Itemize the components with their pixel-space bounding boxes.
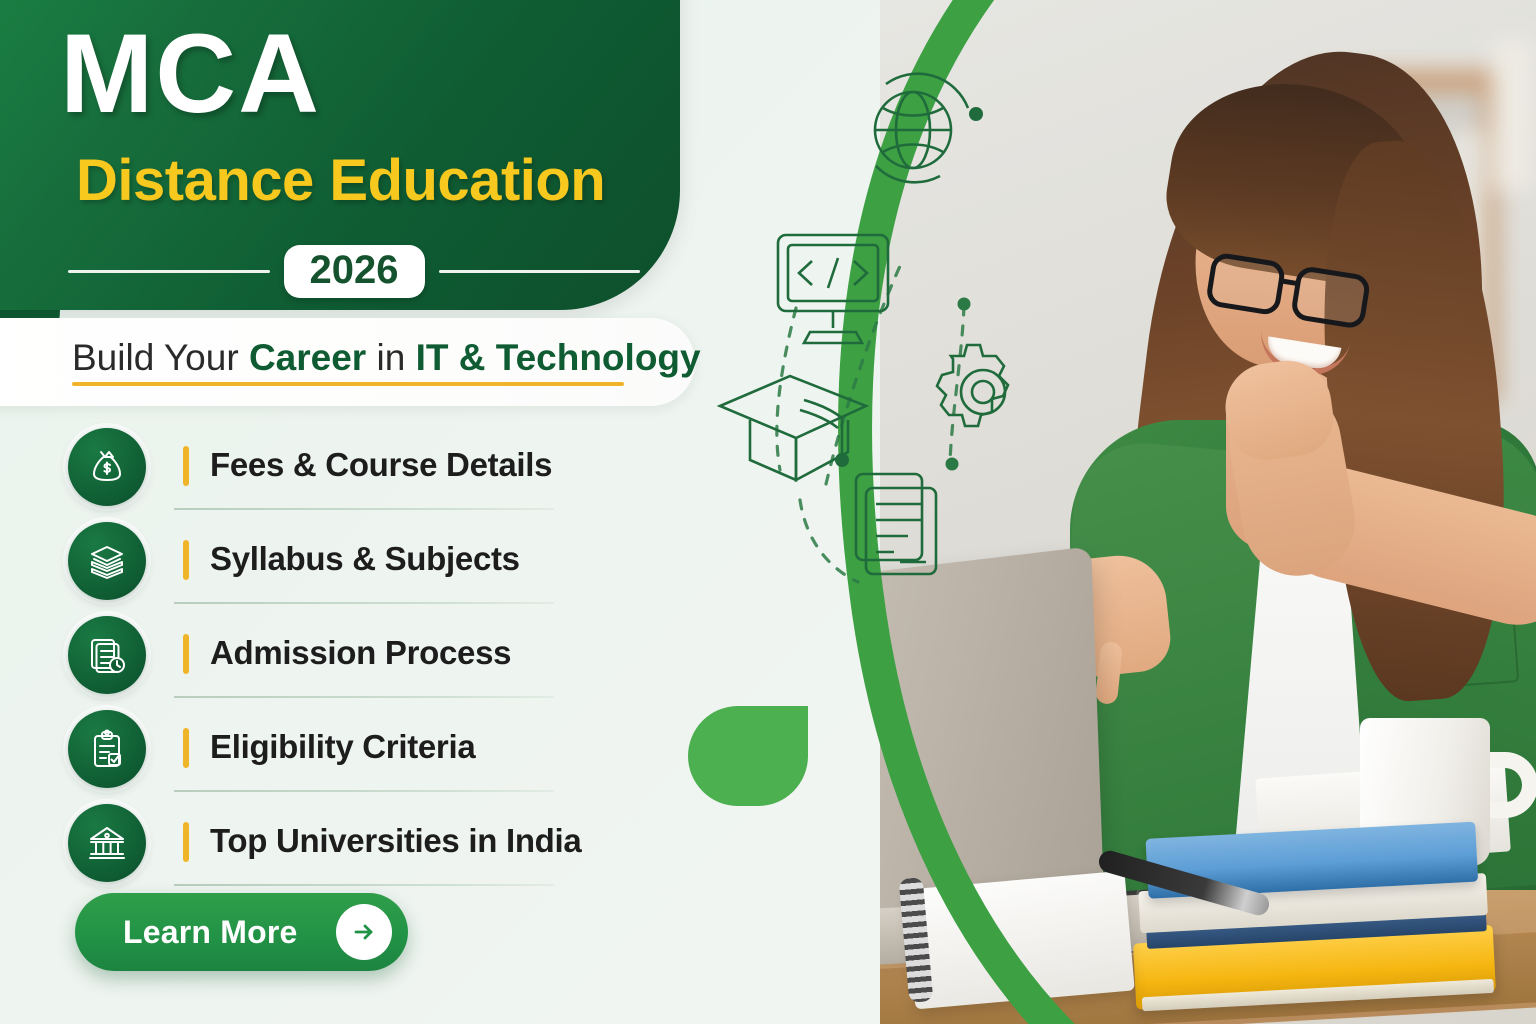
list-item[interactable]: Top Universities in India [68, 796, 568, 890]
tagline-part-1: Build Your [72, 337, 249, 378]
list-divider [174, 790, 554, 792]
page-subtitle: Distance Education [76, 152, 605, 210]
list-divider [174, 508, 554, 510]
document-clock-icon [68, 616, 146, 694]
list-item-label: Top Universities in India [210, 822, 581, 860]
list-item-label: Fees & Course Details [210, 446, 552, 484]
page-title: MCA [60, 18, 321, 130]
tagline: Build Your Career in IT & Technology [72, 336, 701, 380]
year-row: 2026 [68, 240, 640, 302]
money-bag-icon [68, 428, 146, 506]
list-item-label: Admission Process [210, 634, 511, 672]
list-item-label: Syllabus & Subjects [210, 540, 520, 578]
list-divider [174, 884, 554, 886]
year-badge: 2026 [284, 245, 425, 298]
book-stack-icon [68, 522, 146, 600]
accent-bar [183, 728, 189, 768]
list-item[interactable]: Fees & Course Details [68, 420, 568, 514]
list-divider [174, 602, 554, 604]
gear-settings-icon [937, 345, 1008, 426]
accent-bar [183, 540, 189, 580]
year-divider-right [439, 270, 641, 273]
clipboard-check-icon [68, 710, 146, 788]
tagline-highlight-it: IT & Technology [416, 337, 701, 378]
document-lines-icon [856, 474, 936, 574]
book-stack [1128, 820, 1507, 1019]
code-monitor-icon [778, 235, 888, 343]
tagline-highlight-career: Career [249, 337, 366, 378]
tagline-part-3: in [366, 337, 415, 378]
decor-icon-cluster [700, 70, 1060, 630]
mca-distance-education-banner: MCA Distance Education 2026 Build Your C… [0, 0, 1536, 1024]
green-blob-accent [688, 706, 808, 806]
accent-bar [183, 446, 189, 486]
arrow-right-icon [336, 904, 392, 960]
spiral-notepad [905, 871, 1135, 1010]
list-item-label: Eligibility Criteria [210, 728, 475, 766]
globe-network-icon [875, 74, 983, 183]
year-divider-left [68, 270, 270, 273]
bank-building-icon [68, 804, 146, 882]
list-divider [174, 696, 554, 698]
list-item[interactable]: Admission Process [68, 608, 568, 702]
learn-more-label: Learn More [123, 914, 297, 951]
list-item[interactable]: Eligibility Criteria [68, 702, 568, 796]
accent-bar [183, 822, 189, 862]
graduation-cap-icon [720, 376, 866, 480]
feature-list: Fees & Course Details Syllabus & Subject… [68, 420, 568, 890]
list-item[interactable]: Syllabus & Subjects [68, 514, 568, 608]
learn-more-button[interactable]: Learn More [75, 893, 408, 971]
accent-bar [183, 634, 189, 674]
tagline-underline [72, 382, 624, 386]
